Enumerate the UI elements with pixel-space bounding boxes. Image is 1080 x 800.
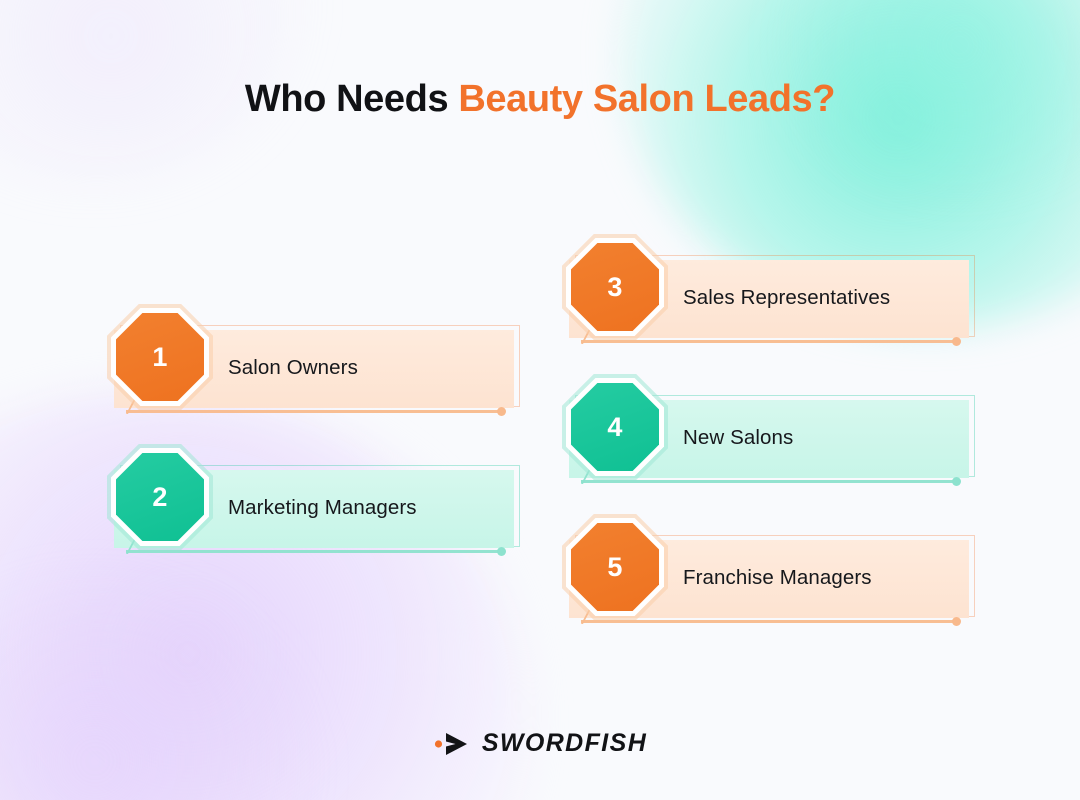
number-badge: 4 [565, 377, 665, 477]
page-title-plain: Who Needs [245, 78, 458, 120]
badge-number: 1 [152, 344, 167, 371]
list-item-4[interactable]: 4 New Salons [565, 395, 975, 481]
card-end-dot [952, 617, 961, 626]
page-title: Who Needs Beauty Salon Leads? [0, 78, 1080, 121]
number-badge: 3 [565, 237, 665, 337]
list-item-label: Salon Owners [228, 325, 358, 411]
octagon-core: 3 [571, 243, 659, 331]
list-item-2[interactable]: 2 Marketing Managers [110, 465, 520, 551]
list-item-label: Sales Representatives [683, 255, 890, 341]
card-end-dot [497, 547, 506, 556]
badge-number: 4 [607, 414, 622, 441]
octagon-core: 4 [571, 383, 659, 471]
list-item-label: New Salons [683, 395, 793, 481]
list-item-label: Marketing Managers [228, 465, 417, 551]
octagon-core: 1 [116, 313, 204, 401]
infographic-canvas: Who Needs Beauty Salon Leads? 1 Salon Ow… [0, 0, 1080, 800]
list-item-3[interactable]: 3 Sales Representatives [565, 255, 975, 341]
card-end-dot [952, 337, 961, 346]
card-end-dot [497, 407, 506, 416]
card-end-dot [952, 477, 961, 486]
list-item-5[interactable]: 5 Franchise Managers [565, 535, 975, 621]
chevron-arrow-icon [433, 731, 473, 757]
brand-wordmark: SWORDFISH [482, 729, 647, 758]
badge-number: 2 [152, 484, 167, 511]
list-item-1[interactable]: 1 Salon Owners [110, 325, 520, 411]
background-glow-lavender-core [0, 590, 310, 800]
badge-number: 3 [607, 274, 622, 301]
octagon-core: 5 [571, 523, 659, 611]
number-badge: 5 [565, 517, 665, 617]
brand-logo: SWORDFISH [0, 729, 1080, 758]
octagon-core: 2 [116, 453, 204, 541]
badge-number: 5 [607, 554, 622, 581]
number-badge: 2 [110, 447, 210, 547]
page-title-accent: Beauty Salon Leads? [458, 78, 835, 120]
list-item-label: Franchise Managers [683, 535, 872, 621]
number-badge: 1 [110, 307, 210, 407]
